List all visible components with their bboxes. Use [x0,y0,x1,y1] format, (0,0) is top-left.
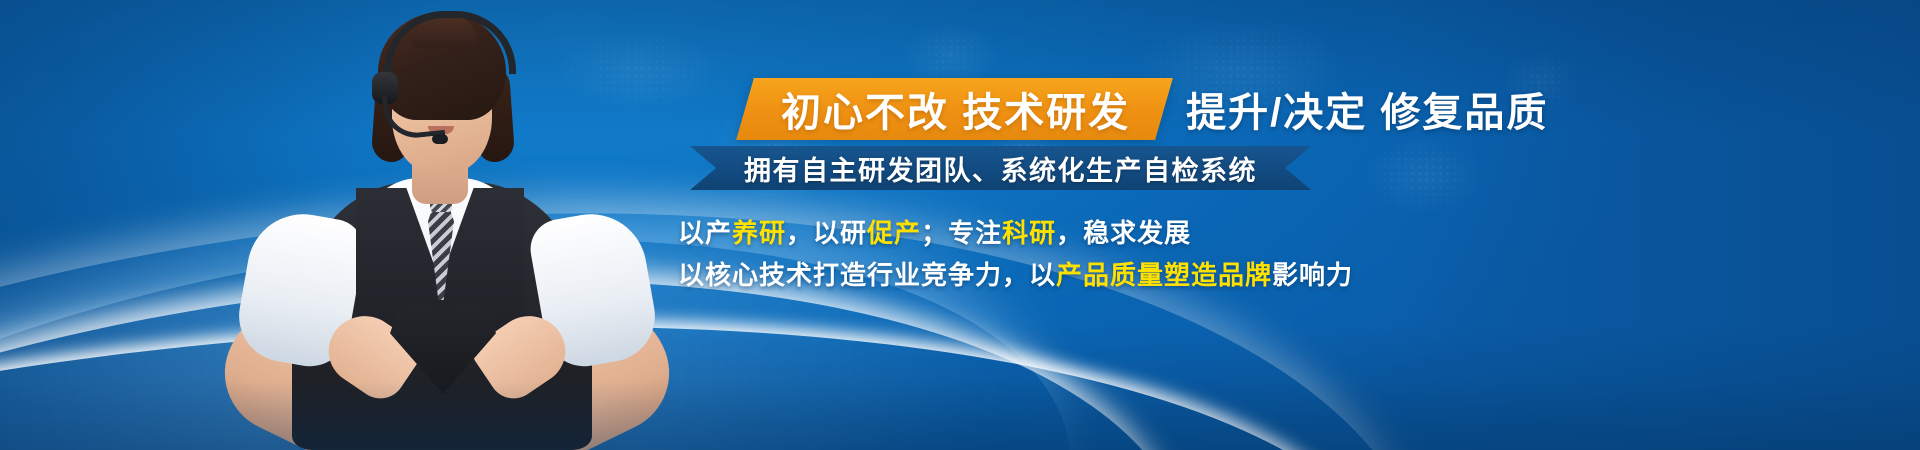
headline-blue-text: 提升/决定 修复品质 [1186,80,1548,138]
headline-orange-badge: 初心不改 技术研发 [736,78,1173,140]
tagline-segment-0: 以核心技术打造行业竞争力，以 [678,260,1056,290]
subtitle-ribbon: 拥有自主研发团队、系统化生产自检系统 [690,146,1311,190]
tagline-segment-4: ；专注 [921,218,1002,248]
tagline-segment-2: ，以研 [786,218,867,248]
tagline-line-2: 以核心技术打造行业竞争力，以产品质量塑造品牌影响力 [678,255,1353,292]
tagline-highlight-segment-3: 促产 [867,218,921,248]
promotional-banner: 初心不改 技术研发 提升/决定 修复品质 拥有自主研发团队、系统化生产自检系统 … [0,0,1920,450]
subtitle-ribbon-text: 拥有自主研发团队、系统化生产自检系统 [744,149,1257,188]
headline-orange-text: 初心不改 技术研发 [781,80,1130,138]
tagline-line-1: 以产养研，以研促产；专注科研，稳求发展 [678,213,1191,250]
tagline-segment-0: 以产 [678,218,732,248]
tagline-segment-6: ，稳求发展 [1056,218,1191,248]
headset-microphone-tip-icon [432,134,448,144]
tagline-highlight-segment-1: 产品质量塑造品牌 [1056,260,1272,290]
tagline-highlight-segment-1: 养研 [732,218,786,248]
tagline-segment-2: 影响力 [1272,260,1353,290]
bottom-shade [0,380,1920,450]
headset-headband-icon [384,11,516,74]
headline: 初心不改 技术研发 提升/决定 修复品质 [745,78,1548,140]
tagline-highlight-segment-5: 科研 [1002,218,1056,248]
